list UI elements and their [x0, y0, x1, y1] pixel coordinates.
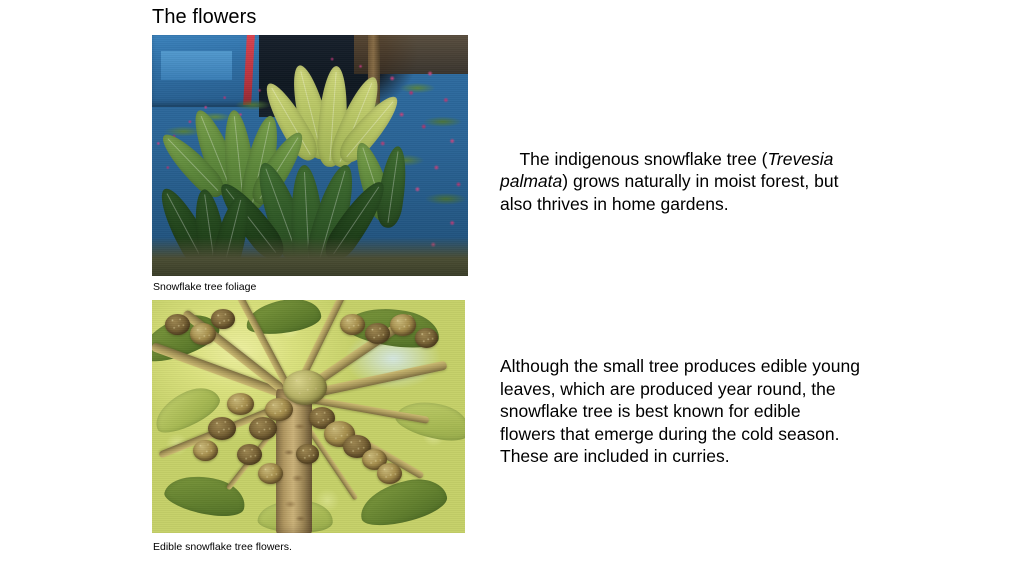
figure-edible-snowflake-tree-flowers	[152, 300, 465, 533]
flower-umbel	[193, 440, 218, 461]
flower-umbel	[415, 328, 438, 348]
flower-umbel	[340, 314, 365, 335]
flower-umbel	[165, 314, 190, 335]
flower-umbel	[249, 417, 277, 440]
paragraph-intro: The indigenous snowflake tree (Trevesia …	[500, 125, 860, 238]
flower-umbel	[237, 444, 262, 465]
paragraph-intro-run-1: The indigenous snowflake tree (	[519, 149, 767, 169]
figure-snowflake-tree-foliage	[152, 35, 468, 276]
figure-caption-flowers: Edible snowflake tree flowers.	[153, 541, 292, 554]
slide: The flowers	[0, 0, 1024, 576]
page-title: The flowers	[152, 5, 256, 29]
flower-umbel	[283, 370, 327, 405]
figure-image-flowers	[152, 300, 465, 533]
ground-shadow	[152, 237, 468, 276]
flower-umbel	[365, 323, 390, 344]
figure-image-foliage	[152, 35, 468, 276]
flower-umbel	[227, 393, 254, 415]
flower-umbel	[211, 309, 234, 329]
paragraph-uses: Although the small tree produces edible …	[500, 355, 860, 468]
flower-umbel	[208, 417, 236, 440]
figure-caption-foliage: Snowflake tree foliage	[153, 281, 256, 294]
